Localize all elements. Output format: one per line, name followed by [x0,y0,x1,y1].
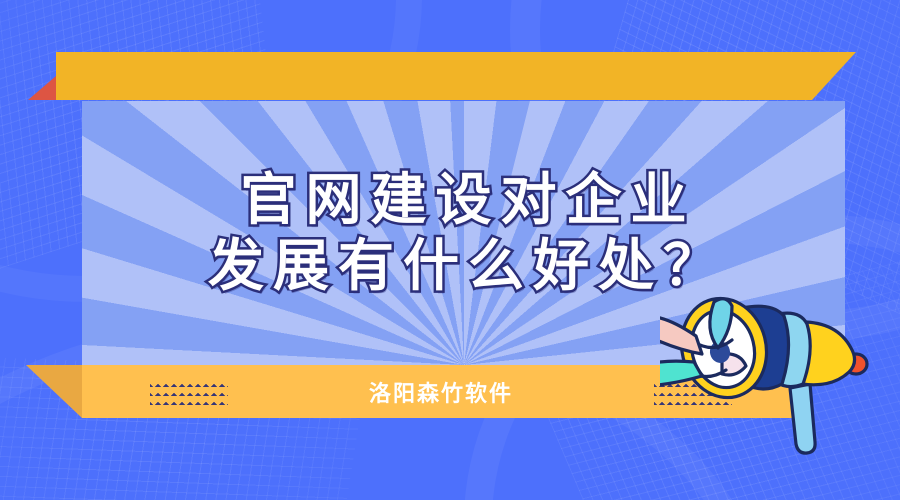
poster-canvas: 官网建设对企业 发展有什么好处？ 洛阳森竹软件 [0,0,900,500]
headline-line-1: 官网建设对企业 [232,170,696,230]
headline-block: 官网建设对企业 发展有什么好处？ [82,101,845,365]
bee-stinger [845,354,867,374]
bottom-banner-triangle [26,365,82,418]
top-banner [56,52,856,100]
headline-line-2: 发展有什么好处？ [199,236,728,296]
brand-name: 洛阳森竹软件 [369,376,513,408]
sunburst-panel: 官网建设对企业 发展有什么好处？ [82,101,845,365]
zigzag-icon-right [654,379,732,405]
brand-banner: 洛阳森竹软件 [82,365,800,418]
zigzag-icon-left [150,379,228,405]
